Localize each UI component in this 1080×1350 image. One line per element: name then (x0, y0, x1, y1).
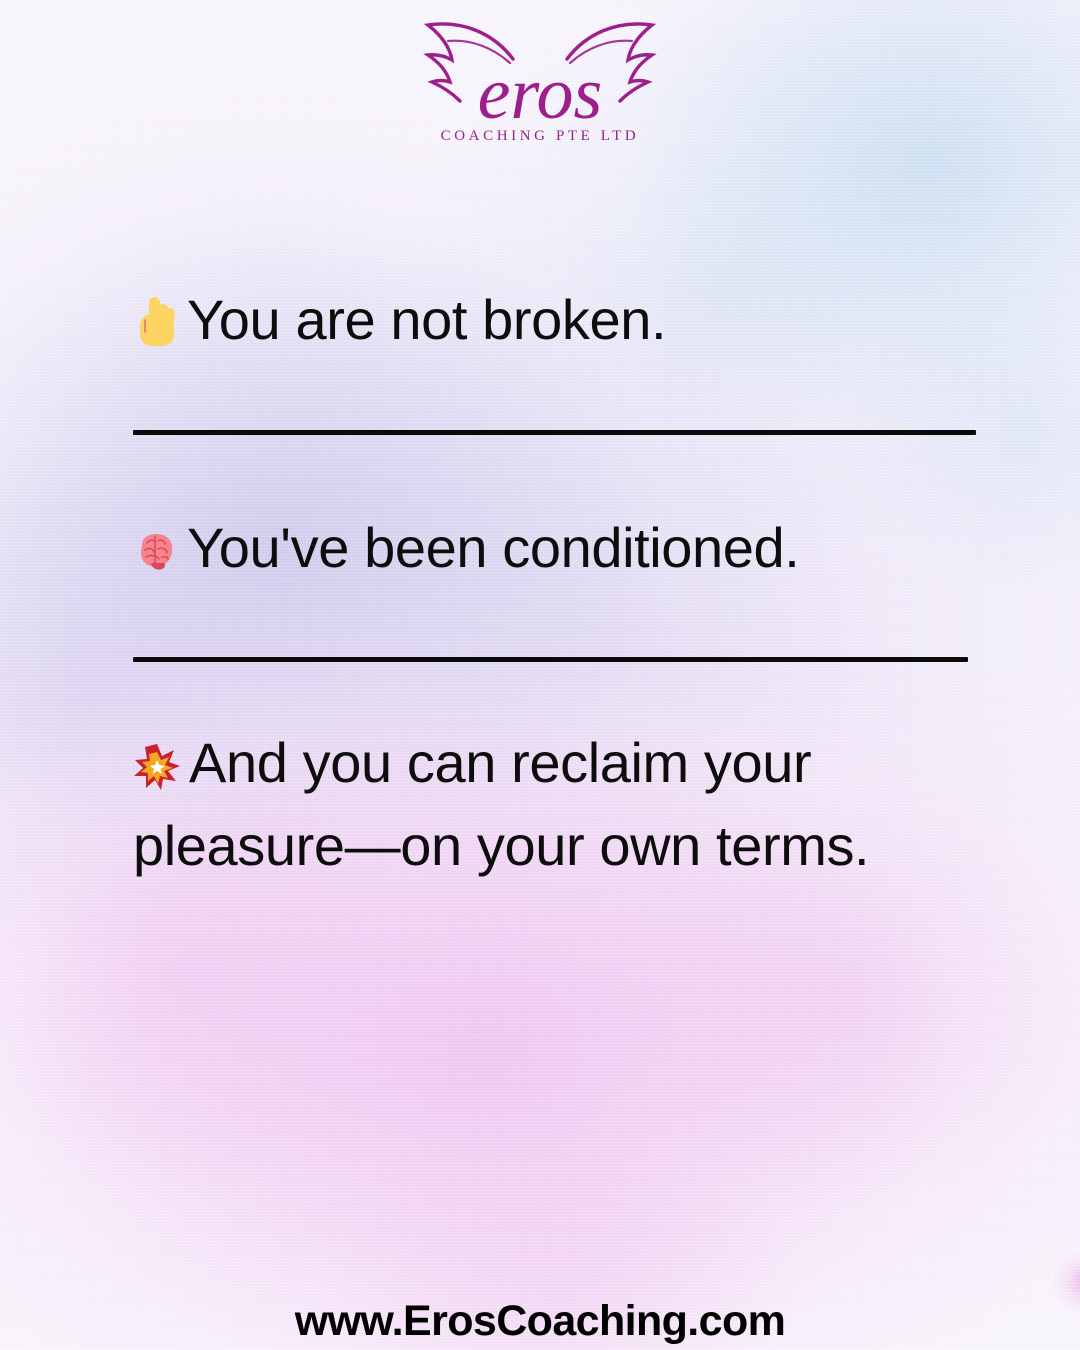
index-pointing-up-emoji (133, 292, 179, 366)
divider-1 (133, 430, 976, 435)
logo-tagline: COACHING PTE LTD (441, 128, 640, 144)
statement-1-text: You are not broken. (187, 288, 666, 351)
logo-wordmark: eros (478, 53, 603, 135)
brain-emoji (133, 520, 179, 594)
statement-1: You are not broken. (133, 283, 993, 366)
collision-emoji (133, 735, 181, 809)
footer-website[interactable]: www.ErosCoaching.com (0, 1297, 1080, 1346)
divider-2 (133, 657, 968, 662)
poster-canvas: eros COACHING PTE LTD You are not broken… (0, 0, 1080, 1350)
statement-3: And you can reclaim your pleasure—on you… (133, 726, 993, 884)
statement-3-text: And you can reclaim your pleasure—on you… (133, 731, 869, 877)
statement-2: You've been conditioned. (133, 511, 993, 594)
brand-logo: eros COACHING PTE LTD (0, 14, 1080, 146)
angel-wings-icon: eros COACHING PTE LTD (390, 14, 690, 146)
statement-2-text: You've been conditioned. (187, 516, 799, 579)
poster-content: You are not broken. (0, 0, 1080, 1350)
